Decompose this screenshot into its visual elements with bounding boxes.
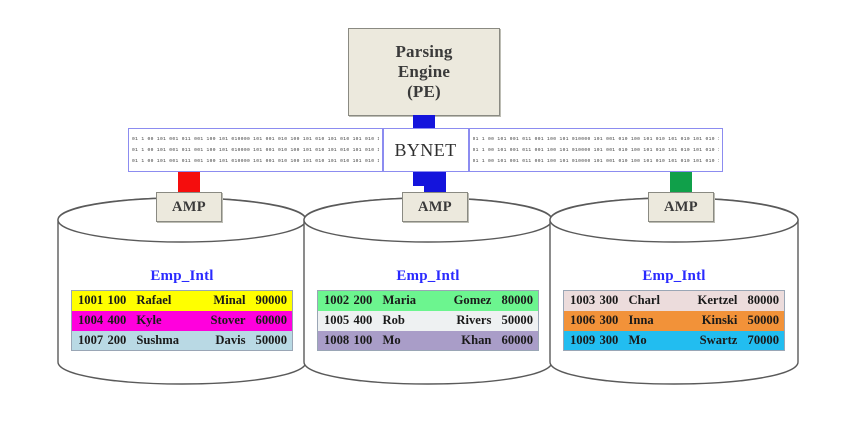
cell-first-name: Rafael <box>134 291 194 311</box>
bitstream-row: 01 1 00 101 001 011 001 100 101 010000 1… <box>132 145 379 156</box>
vdisk-2-table: Emp_Intl 1002 200 Maria Gomez 80000 1005… <box>317 268 539 351</box>
table-title: Emp_Intl <box>317 268 539 285</box>
cell-emp-id: 1009 <box>564 331 598 351</box>
cell-last-name: Stover <box>194 311 247 331</box>
cell-dept-no: 100 <box>105 291 134 311</box>
bynet-bitstream-left: 01 1 00 101 001 011 001 100 101 010000 1… <box>128 128 383 172</box>
bitstream-row: 01 1 00 101 001 011 001 100 101 010000 1… <box>132 156 379 167</box>
cell-salary: 60000 <box>493 331 538 351</box>
cell-emp-id: 1008 <box>318 331 352 351</box>
cell-last-name: Kertzel <box>685 291 739 311</box>
table-row: 1007 200 Sushma Davis 50000 <box>72 331 293 351</box>
table-title: Emp_Intl <box>71 268 293 285</box>
cell-dept-no: 100 <box>351 331 380 351</box>
bitstream-row: 01 1 00 101 001 011 001 100 101 010000 1… <box>473 145 720 156</box>
bitstream-row: 01 1 00 101 001 011 001 100 101 010000 1… <box>473 156 720 167</box>
cell-dept-no: 400 <box>351 311 380 331</box>
bynet-bus: 01 1 00 101 001 011 001 100 101 010000 1… <box>128 128 723 172</box>
cell-salary: 60000 <box>248 311 293 331</box>
table-row: 1003 300 Charl Kertzel 80000 <box>564 291 785 311</box>
cell-dept-no: 200 <box>105 331 134 351</box>
amp-box-3: AMP <box>648 192 714 222</box>
emp-intl-table: 1001 100 Rafael Minal 90000 1004 400 Kyl… <box>71 290 293 351</box>
cell-salary: 50000 <box>493 311 538 331</box>
cell-first-name: Kyle <box>134 311 194 331</box>
cell-salary: 90000 <box>248 291 293 311</box>
vdisk-cylinder-2: Emp_Intl 1002 200 Maria Gomez 80000 1005… <box>302 196 554 386</box>
parsing-engine-box: Parsing Engine (PE) <box>348 28 500 116</box>
cell-emp-id: 1006 <box>564 311 598 331</box>
cell-last-name: Gomez <box>439 291 493 311</box>
vdisk-1-table: Emp_Intl 1001 100 Rafael Minal 90000 100… <box>71 268 293 351</box>
cell-emp-id: 1007 <box>72 331 106 351</box>
bynet-bitstream-right: 01 1 00 101 001 011 001 100 101 010000 1… <box>469 128 724 172</box>
cell-emp-id: 1003 <box>564 291 598 311</box>
cell-salary: 50000 <box>248 331 293 351</box>
cell-emp-id: 1005 <box>318 311 352 331</box>
cell-salary: 80000 <box>493 291 538 311</box>
cell-dept-no: 200 <box>351 291 380 311</box>
cell-emp-id: 1001 <box>72 291 106 311</box>
amp-box-2: AMP <box>402 192 468 222</box>
vdisk-cylinder-3: Emp_Intl 1003 300 Charl Kertzel 80000 10… <box>548 196 800 386</box>
cell-first-name: Maria <box>381 291 440 311</box>
cell-last-name: Davis <box>194 331 247 351</box>
table-title: Emp_Intl <box>563 268 785 285</box>
emp-intl-table: 1003 300 Charl Kertzel 80000 1006 300 In… <box>563 290 785 351</box>
cell-emp-id: 1004 <box>72 311 106 331</box>
cell-dept-no: 300 <box>597 311 626 331</box>
cell-first-name: Rob <box>381 311 440 331</box>
table-row: 1009 300 Mo Swartz 70000 <box>564 331 785 351</box>
amp-box-1: AMP <box>156 192 222 222</box>
cell-first-name: Mo <box>381 331 440 351</box>
cell-dept-no: 300 <box>597 331 626 351</box>
table-row: 1004 400 Kyle Stover 60000 <box>72 311 293 331</box>
cell-dept-no: 300 <box>597 291 626 311</box>
cell-first-name: Mo <box>627 331 686 351</box>
bitstream-row: 01 1 00 101 001 011 001 100 101 010000 1… <box>132 134 379 145</box>
cell-last-name: Khan <box>439 331 493 351</box>
table-row: 1005 400 Rob Rivers 50000 <box>318 311 539 331</box>
cell-salary: 80000 <box>739 291 784 311</box>
table-row: 1006 300 Inna Kinski 50000 <box>564 311 785 331</box>
table-row: 1002 200 Maria Gomez 80000 <box>318 291 539 311</box>
cell-first-name: Charl <box>627 291 686 311</box>
cell-last-name: Rivers <box>439 311 493 331</box>
table-row: 1008 100 Mo Khan 60000 <box>318 331 539 351</box>
table-row: 1001 100 Rafael Minal 90000 <box>72 291 293 311</box>
cell-last-name: Minal <box>194 291 247 311</box>
cell-salary: 70000 <box>739 331 784 351</box>
diagram-canvas: Parsing Engine (PE) 01 1 00 101 001 011 … <box>0 0 852 432</box>
cell-salary: 50000 <box>739 311 784 331</box>
parsing-engine-line-3: (PE) <box>407 82 441 102</box>
emp-intl-table: 1002 200 Maria Gomez 80000 1005 400 Rob … <box>317 290 539 351</box>
parsing-engine-line-1: Parsing <box>395 42 452 62</box>
bitstream-row: 01 1 00 101 001 011 001 100 101 010000 1… <box>473 134 720 145</box>
cell-first-name: Sushma <box>134 331 194 351</box>
bynet-label: BYNET <box>383 128 469 172</box>
cell-dept-no: 400 <box>105 311 134 331</box>
vdisk-cylinder-1: Emp_Intl 1001 100 Rafael Minal 90000 100… <box>56 196 308 386</box>
cell-emp-id: 1002 <box>318 291 352 311</box>
cell-first-name: Inna <box>627 311 686 331</box>
vdisk-3-table: Emp_Intl 1003 300 Charl Kertzel 80000 10… <box>563 268 785 351</box>
parsing-engine-line-2: Engine <box>398 62 450 82</box>
cell-last-name: Kinski <box>685 311 739 331</box>
cell-last-name: Swartz <box>685 331 739 351</box>
